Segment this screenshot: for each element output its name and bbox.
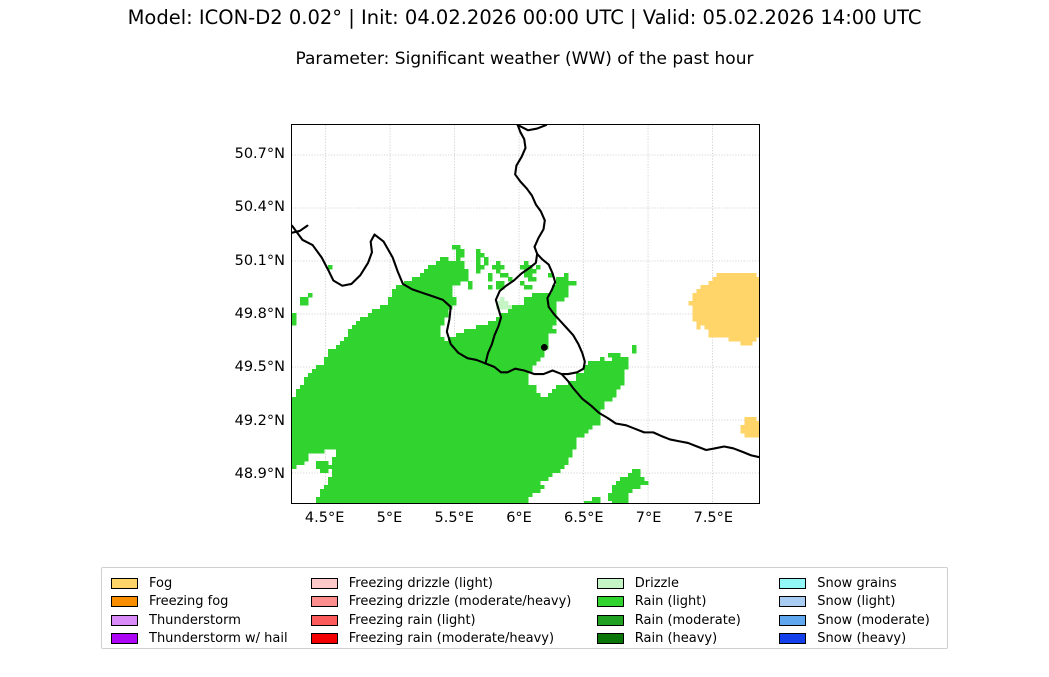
weather-cell [368,453,372,457]
weather-cell [472,369,476,373]
weather-cell [380,401,384,405]
weather-cell [508,401,512,405]
weather-cell [392,417,396,421]
weather-cell [512,305,516,309]
weather-cell [536,417,540,421]
weather-cell [492,429,496,433]
weather-cell [460,501,464,503]
weather-cell [492,377,496,381]
weather-cell [500,453,504,457]
weather-cell [496,449,500,453]
weather-cell [452,449,456,453]
weather-cell [528,465,532,469]
weather-cell [320,429,324,433]
legend-item-freezing-drizzle-light[interactable]: Freezing drizzle (light) [311,574,589,593]
weather-cell [716,333,720,337]
weather-cell [504,473,508,477]
weather-cell [316,397,320,401]
weather-cell [488,401,492,405]
weather-cell [584,377,588,381]
weather-cell [512,345,516,349]
weather-cell [736,293,740,297]
weather-cell [396,349,400,353]
weather-cell [308,433,312,437]
weather-cell [512,353,516,357]
weather-cell [352,365,356,369]
weather-cell [332,457,336,461]
weather-cell [544,461,548,465]
weather-cell [316,497,320,501]
weather-cell [324,437,328,441]
weather-cell [444,445,448,449]
weather-cell [376,461,380,465]
weather-cell [380,493,384,497]
legend-item-snow-light[interactable]: Snow (light) [779,593,947,612]
weather-cell [528,357,532,361]
weather-cell [544,465,548,469]
weather-cell [348,333,352,337]
weather-cell [400,493,404,497]
weather-cell [504,365,508,369]
weather-cell [328,401,332,405]
weather-cell [504,417,508,421]
weather-cell [696,289,700,293]
weather-cell [316,377,320,381]
weather-cell [740,429,744,433]
weather-cell [444,413,448,417]
weather-cell [496,389,500,393]
weather-cell [420,485,424,489]
weather-cell [376,441,380,445]
weather-cell [456,257,460,261]
weather-cell [372,465,376,469]
weather-cell [752,325,756,329]
weather-cell [584,385,588,389]
weather-cell [312,389,316,393]
weather-cell [372,429,376,433]
weather-cell [756,277,759,281]
weather-cell [504,341,508,345]
weather-cell [476,413,480,417]
weather-cell [496,361,500,365]
weather-cell [424,305,428,309]
weather-cell [480,333,484,337]
weather-cell [516,413,520,417]
weather-cell [396,325,400,329]
weather-cell [448,457,452,461]
weather-cell [572,381,576,385]
weather-cell [524,481,528,485]
weather-cell [552,441,556,445]
legend-item-drizzle[interactable]: Drizzle [597,574,771,593]
weather-cell [516,377,520,381]
weather-cell [512,321,516,325]
weather-cell [732,325,736,329]
weather-cell [320,433,324,437]
weather-cell [576,417,580,421]
legend-item-thunderstorm[interactable]: Thunderstorm [111,611,303,630]
weather-cell [456,369,460,373]
weather-cell [456,409,460,413]
weather-cell [756,429,759,433]
weather-cell [596,365,600,369]
weather-cell [432,409,436,413]
weather-cell [464,473,468,477]
weather-cell [608,493,612,497]
weather-cell [540,329,544,333]
weather-cell [588,501,592,503]
weather-cell [632,477,636,481]
weather-cell [516,381,520,385]
weather-cell [292,397,296,401]
weather-cell [756,297,759,301]
weather-cell [560,293,564,297]
legend-item-freezing-drizzle-moderate-heavy[interactable]: Freezing drizzle (moderate/heavy) [311,593,589,612]
weather-cell [496,469,500,473]
weather-cell [348,337,352,341]
weather-cell [564,401,568,405]
weather-cell [752,309,756,313]
weather-cell [552,429,556,433]
weather-cell [456,261,460,265]
weather-cell [404,321,408,325]
weather-cell [340,469,344,473]
legend-item-snow-heavy[interactable]: Snow (heavy) [779,630,947,649]
weather-cell [464,441,468,445]
weather-cell [324,409,328,413]
weather-cell [428,433,432,437]
weather-cell [504,317,508,321]
weather-cell [396,433,400,437]
weather-cell [324,393,328,397]
weather-cell [724,333,728,337]
weather-cell [360,433,364,437]
weather-cell [412,433,416,437]
weather-cell [320,469,324,473]
weather-cell [460,341,464,345]
weather-cell [716,329,720,333]
weather-cell [500,449,504,453]
weather-cell [460,473,464,477]
weather-cell [372,313,376,317]
weather-cell [428,325,432,329]
legend-item-snow-grains[interactable]: Snow grains [779,574,947,593]
weather-cell [424,365,428,369]
weather-cell [424,277,428,281]
weather-cell [516,393,520,397]
weather-cell [724,289,728,293]
weather-cell [372,449,376,453]
weather-cell [412,349,416,353]
weather-cell [388,497,392,501]
weather-cell [380,413,384,417]
weather-cell [404,389,408,393]
weather-cell [356,373,360,377]
weather-cell [540,425,544,429]
weather-cell [504,477,508,481]
weather-cell [544,325,548,329]
weather-cell [364,385,368,389]
weather-cell [388,369,392,373]
weather-cell [444,381,448,385]
weather-cell [460,497,464,501]
weather-cell [756,421,759,425]
legend-label-drizzle: Drizzle [635,576,679,591]
weather-cell [300,425,304,429]
weather-cell [616,353,620,357]
weather-cell [584,409,588,413]
weather-cell [540,305,544,309]
weather-cell [380,433,384,437]
weather-cell [488,393,492,397]
weather-cell [376,377,380,381]
weather-cell [400,481,404,485]
weather-cell [368,493,372,497]
weather-cell [416,421,420,425]
legend-item-freezing-rain-moderate-heavy[interactable]: Freezing rain (moderate/heavy) [311,630,589,649]
weather-cell [528,433,532,437]
weather-cell [396,317,400,321]
weather-cell [516,325,520,329]
weather-cell [452,409,456,413]
weather-cell [400,421,404,425]
weather-cell [512,421,516,425]
legend-item-snow-moderate[interactable]: Snow (moderate) [779,611,947,630]
weather-cell [388,337,392,341]
weather-cell [392,409,396,413]
weather-cell [436,437,440,441]
weather-cell [432,345,436,349]
weather-cell [396,373,400,377]
weather-cell [360,373,364,377]
weather-cell [512,445,516,449]
weather-cell [396,301,400,305]
weather-cell [436,409,440,413]
weather-cell [296,461,300,465]
weather-cell [344,497,348,501]
legend-item-thunderstorm-with-hail[interactable]: Thunderstorm w/ hail [111,630,303,649]
weather-cell [516,321,520,325]
weather-cell [532,385,536,389]
weather-cell [336,369,340,373]
weather-cell [616,489,620,493]
weather-cell [408,417,412,421]
weather-cell [396,457,400,461]
weather-cell [444,365,448,369]
weather-cell [392,369,396,373]
weather-cell [324,361,328,365]
weather-cell [428,497,432,501]
weather-cell [504,485,508,489]
weather-cell [612,497,616,501]
weather-cell [384,493,388,497]
weather-cell [368,445,372,449]
weather-cell [560,393,564,397]
weather-cell [360,365,364,369]
weather-cell [428,477,432,481]
weather-cell [448,489,452,493]
weather-cell [532,305,536,309]
weather-cell [332,445,336,449]
y-tick-label: 49.2°N [205,413,285,429]
weather-cell [424,461,428,465]
weather-cell [452,261,456,265]
weather-cell [692,301,696,305]
weather-cell [480,377,484,381]
weather-cell [360,501,364,503]
weather-cell [420,285,424,289]
weather-cell [600,377,604,381]
weather-cell [332,497,336,501]
legend-label-fog: Fog [149,576,172,591]
weather-cell [440,473,444,477]
weather-cell [564,281,568,285]
weather-cell [324,469,328,473]
weather-cell [740,285,744,289]
weather-cell [432,493,436,497]
weather-cell [360,401,364,405]
weather-cell [328,465,332,469]
weather-cell [448,437,452,441]
weather-cell [368,481,372,485]
weather-cell [712,321,716,325]
x-tick-label: 7.5°E [668,510,758,526]
weather-cell [336,477,340,481]
weather-cell [716,317,720,321]
weather-cell [420,449,424,453]
weather-cell [400,365,404,369]
weather-cell [320,389,324,393]
weather-cell [524,333,528,337]
legend-item-freezing-fog[interactable]: Freezing fog [111,593,303,612]
weather-cell [492,421,496,425]
legend-item-rain-light[interactable]: Rain (light) [597,593,771,612]
weather-cell [416,281,420,285]
weather-cell [404,473,408,477]
weather-cell [348,361,352,365]
weather-cell [480,445,484,449]
weather-cell [404,373,408,377]
weather-cell [456,445,460,449]
weather-cell [432,277,436,281]
weather-cell [620,493,624,497]
weather-cell [724,297,728,301]
weather-cell [516,329,520,333]
weather-cell [428,361,432,365]
weather-cell [484,337,488,341]
legend-swatch-snow-light [779,596,806,607]
weather-cell [408,405,412,409]
weather-cell [612,361,616,365]
weather-cell [696,325,700,329]
weather-cell [352,401,356,405]
weather-cell [560,405,564,409]
weather-cell [428,317,432,321]
weather-cell [536,445,540,449]
weather-cell [560,285,564,289]
weather-cell [448,389,452,393]
weather-cell [320,493,324,497]
weather-cell [356,493,360,497]
legend-item-freezing-rain-light[interactable]: Freezing rain (light) [311,611,589,630]
weather-cell [408,425,412,429]
weather-cell [456,489,460,493]
weather-cell [592,397,596,401]
weather-cell [616,481,620,485]
legend-item-rain-moderate[interactable]: Rain (moderate) [597,611,771,630]
weather-cell [324,445,328,449]
weather-cell [356,337,360,341]
weather-cell [440,433,444,437]
weather-cell [304,433,308,437]
weather-cell [420,389,424,393]
weather-cell [444,361,448,365]
weather-cell [476,329,480,333]
weather-cell [436,433,440,437]
weather-cell [408,305,412,309]
weather-cell [476,405,480,409]
weather-cell [316,409,320,413]
weather-cell [384,341,388,345]
weather-cell [452,421,456,425]
weather-cell [696,297,700,301]
weather-cell [412,393,416,397]
weather-cell [436,313,440,317]
weather-cell [436,401,440,405]
weather-cell [436,309,440,313]
weather-cell [712,293,716,297]
weather-cell [712,289,716,293]
weather-cell [580,389,584,393]
weather-cell [336,501,340,503]
weather-cell [340,441,344,445]
weather-cell [620,501,624,503]
weather-cell [476,265,480,269]
weather-cell [468,285,472,289]
weather-cell [416,373,420,377]
weather-cell [444,473,448,477]
weather-cell [476,333,480,337]
legend-item-rain-heavy[interactable]: Rain (heavy) [597,630,771,649]
weather-cell [396,477,400,481]
weather-cell [416,277,420,281]
weather-cell [460,333,464,337]
weather-cell [400,397,404,401]
weather-cell [540,433,544,437]
weather-cell [400,485,404,489]
weather-cell [432,485,436,489]
weather-cell [600,373,604,377]
weather-cell [476,437,480,441]
weather-cell [516,353,520,357]
legend-item-fog[interactable]: Fog [111,574,303,593]
weather-cell [324,497,328,501]
weather-cell [420,369,424,373]
weather-cell [492,481,496,485]
weather-cell [484,493,488,497]
weather-cell [488,405,492,409]
weather-cell [368,421,372,425]
weather-cell [528,309,532,313]
weather-cell [464,381,468,385]
weather-cell [348,401,352,405]
weather-cell [636,469,640,473]
weather-cell [476,385,480,389]
weather-cell [324,485,328,489]
weather-cell [460,481,464,485]
weather-cell [520,321,524,325]
weather-cell [324,381,328,385]
